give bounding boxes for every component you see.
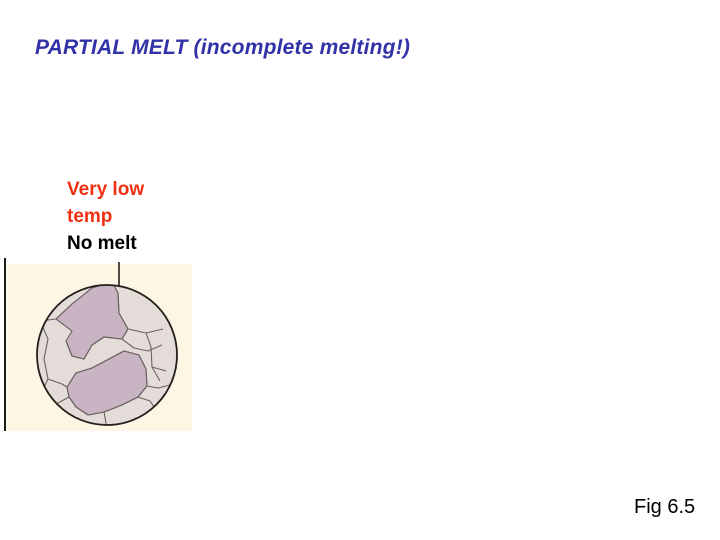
caption-line-2: temp xyxy=(67,203,267,230)
temperature-caption: Very low temp No melt xyxy=(67,176,267,257)
slide-canvas: PARTIAL MELT (incomplete melting!) Very … xyxy=(0,0,720,540)
page-title: PARTIAL MELT (incomplete melting!) xyxy=(35,36,410,60)
grain-fills xyxy=(30,275,190,435)
figure-label: Fig 6.5 xyxy=(634,496,695,519)
caption-line-3: No melt xyxy=(67,230,267,257)
caption-line-1: Very low xyxy=(67,176,267,203)
rock-microstructure-diagram xyxy=(0,255,200,435)
